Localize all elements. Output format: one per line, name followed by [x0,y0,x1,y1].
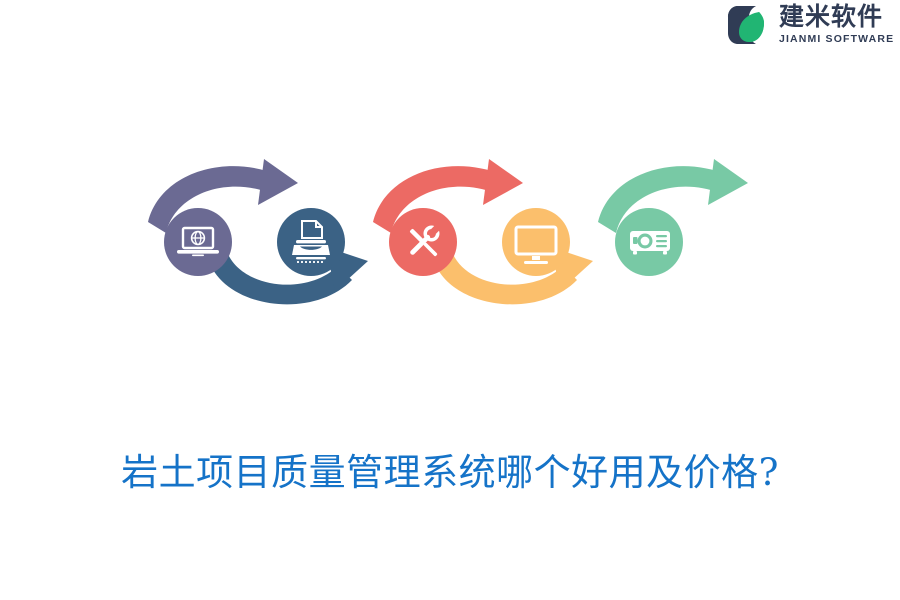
brand-logo[interactable]: 建米软件 JIANMI SOFTWARE [725,0,900,50]
step-4-circle [502,208,570,276]
brand-text-block: 建米软件 JIANMI SOFTWARE [779,5,894,45]
jianmi-logo-mark-icon [725,2,771,48]
process-flow-diagram [130,145,750,335]
projector-icon [630,231,670,255]
process-step-1[interactable] [164,208,232,276]
brand-name-cn: 建米软件 [779,5,894,30]
process-step-3[interactable] [389,208,457,276]
process-step-4[interactable] [502,208,570,276]
process-step-2[interactable] [277,208,345,276]
page-title: 岩土项目质量管理系统哪个好用及价格? [0,442,900,496]
brand-name-en: JIANMI SOFTWARE [779,34,894,45]
process-step-5[interactable] [615,208,683,276]
step-1-circle [164,208,232,276]
